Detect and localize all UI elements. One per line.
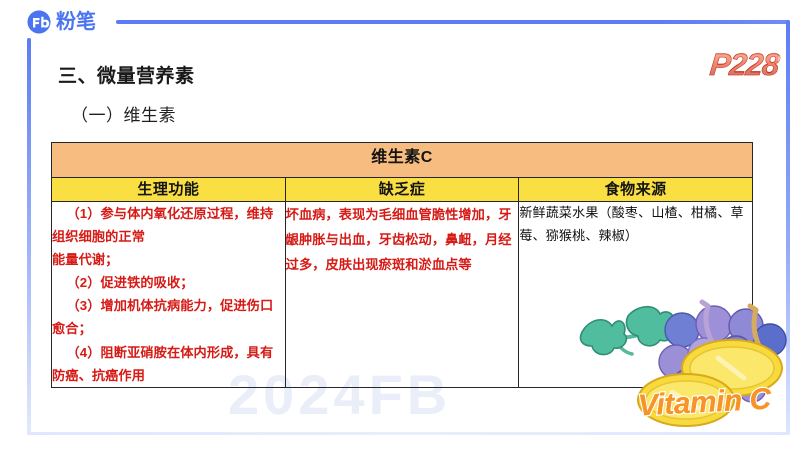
function-line-2: 能量代谢； bbox=[52, 248, 285, 271]
column-header-physiological-function: 生理功能 bbox=[52, 178, 286, 202]
table-title-row: 维生素C bbox=[52, 143, 753, 178]
fb-logo-icon bbox=[26, 9, 52, 35]
slide-canvas: 粉笔 P228 三、微量营养素 （一）维生素 2024FB 维生素C 生理功能 … bbox=[0, 0, 800, 450]
cell-physiological-function: （1）参与体内氧化还原过程，维持组织细胞的正常 能量代谢； （2）促进铁的吸收；… bbox=[52, 202, 286, 388]
food-sources-text: 新鲜蔬菜水果（酸枣、山楂、柑橘、草莓、猕猴桃、辣椒） bbox=[519, 202, 752, 248]
table-body-row: （1）参与体内氧化还原过程，维持组织细胞的正常 能量代谢； （2）促进铁的吸收；… bbox=[52, 202, 753, 388]
function-line-4: （3）增加机体抗病能力，促进伤口愈合； bbox=[52, 294, 285, 340]
brand-logo-text: 粉笔 bbox=[56, 12, 96, 32]
function-line-3: （2）促进铁的吸收； bbox=[52, 271, 285, 294]
deficiency-text: 坏血病，表现为毛细血管脆性增加，牙龈肿胀与出血，牙齿松动，鼻衄，月经过多，皮肤出… bbox=[286, 202, 519, 277]
page-subtitle: （一）维生素 bbox=[71, 101, 176, 126]
column-header-food-sources: 食物来源 bbox=[519, 178, 753, 202]
column-header-deficiency: 缺乏症 bbox=[285, 178, 519, 202]
frame-bottom-line bbox=[27, 432, 790, 435]
frame-right-line bbox=[786, 20, 790, 435]
cell-food-sources: 新鲜蔬菜水果（酸枣、山楂、柑橘、草莓、猕猴桃、辣椒） bbox=[519, 202, 753, 388]
frame-left-line bbox=[27, 38, 31, 435]
cell-deficiency: 坏血病，表现为毛细血管脆性增加，牙龈肿胀与出血，牙齿松动，鼻衄，月经过多，皮肤出… bbox=[285, 202, 519, 388]
function-line-5: （4）阻断亚硝胺在体内形成，具有防癌、抗癌作用 bbox=[52, 341, 285, 387]
vitamin-c-caption-fill: Vitamin C bbox=[637, 383, 771, 424]
function-line-1: （1）参与体内氧化还原过程，维持组织细胞的正常 bbox=[52, 202, 285, 248]
page-number-badge: P228 bbox=[708, 47, 780, 83]
table-header-row: 生理功能 缺乏症 食物来源 bbox=[52, 178, 753, 202]
brand-logo: 粉笔 bbox=[26, 9, 96, 35]
table-title-cell: 维生素C bbox=[52, 143, 753, 178]
page-title: 三、微量营养素 bbox=[58, 61, 195, 88]
frame-top-line bbox=[116, 20, 790, 24]
vitamin-c-table: 维生素C 生理功能 缺乏症 食物来源 （1）参与体内氧化还原过程，维持组织细胞的… bbox=[51, 142, 753, 388]
